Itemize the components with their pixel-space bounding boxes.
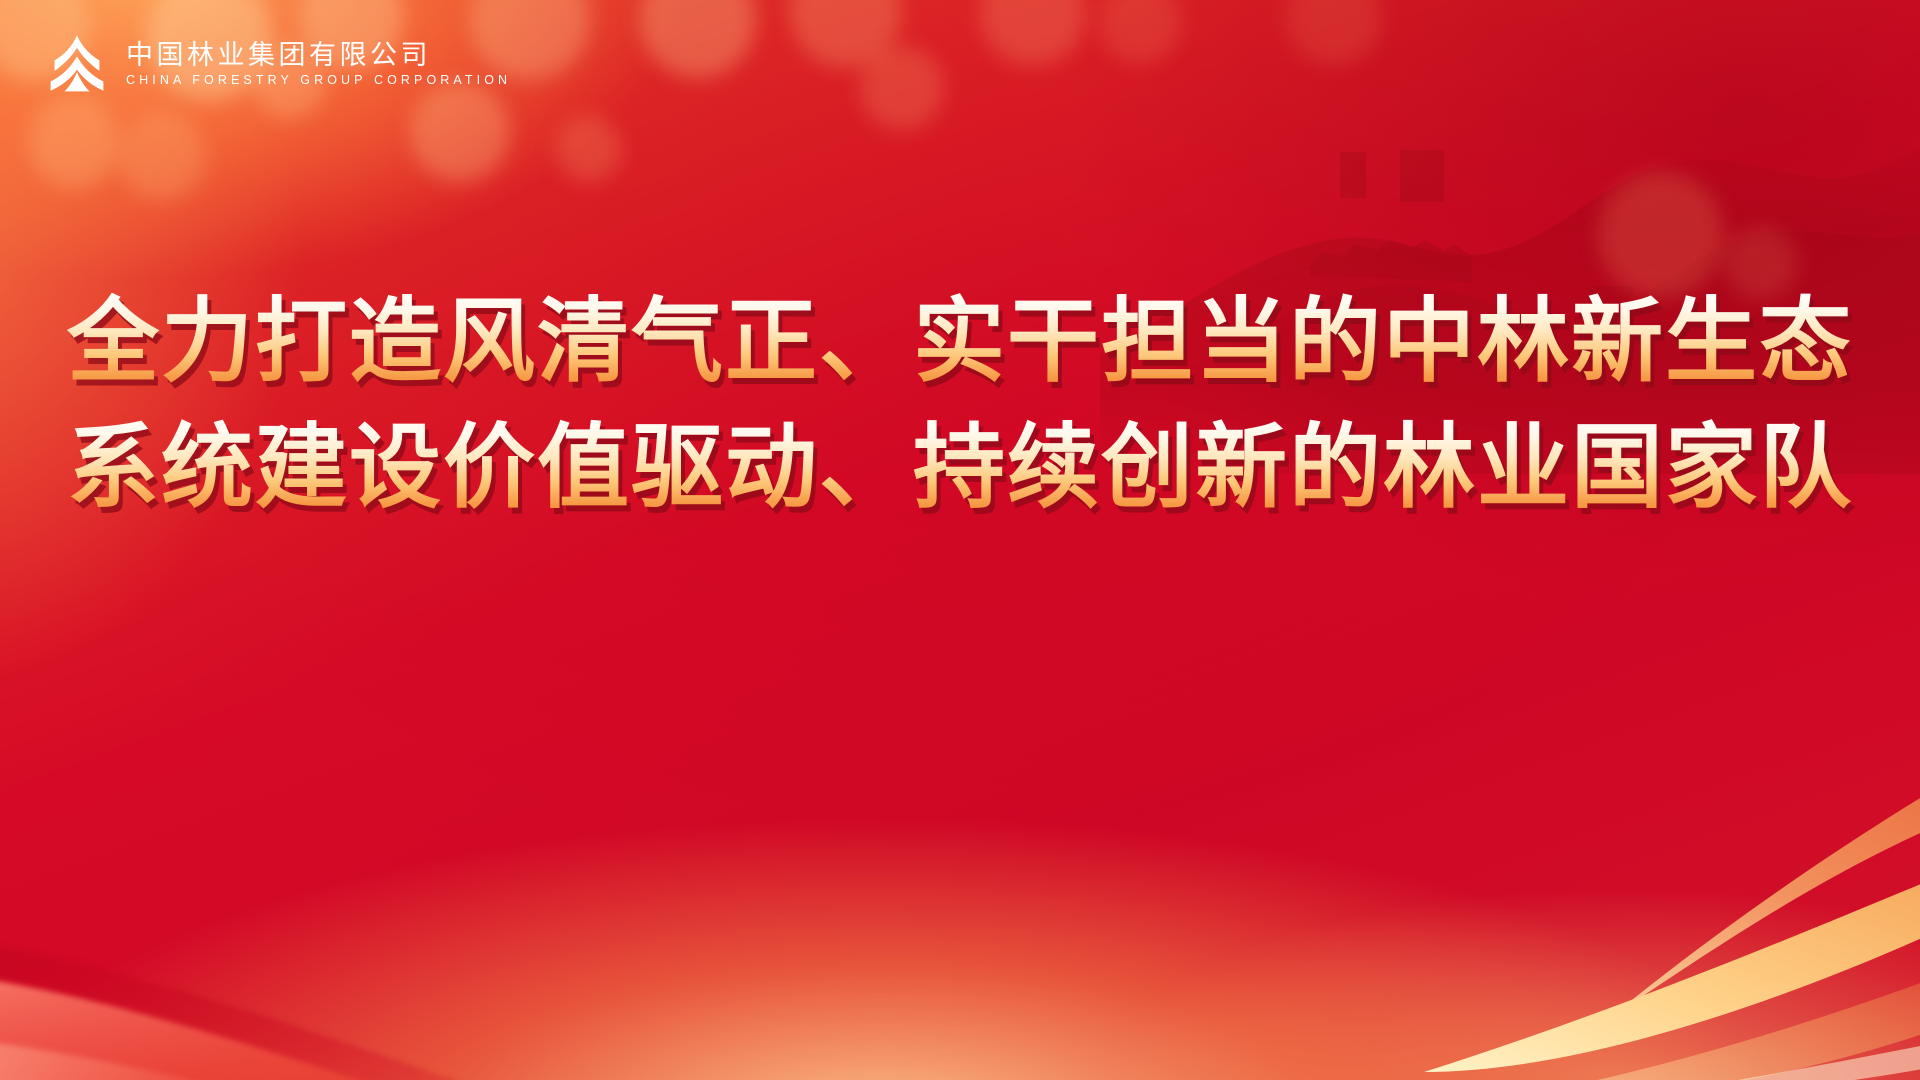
headline-line-2-text: 系统建设价值驱动、持续创新的林业国家队 bbox=[67, 414, 1853, 521]
banner-canvas: 中国林业集团有限公司 CHINA FORESTRY GROUP CORPORAT… bbox=[0, 0, 1920, 1080]
headline-block: 全力打造风清气正、实干担当的中林新生态 全力打造风清气正、实干担当的中林新生态 … bbox=[0, 296, 1920, 514]
brand-logo[interactable]: 中国林业集团有限公司 CHINA FORESTRY GROUP CORPORAT… bbox=[44, 30, 511, 96]
headline-line-2: 系统建设价值驱动、持续创新的林业国家队 系统建设价值驱动、持续创新的林业国家队 bbox=[67, 422, 1853, 514]
logo-company-name-en: CHINA FORESTRY GROUP CORPORATION bbox=[126, 74, 511, 88]
headline-line-1-text: 全力打造风清气正、实干担当的中林新生态 bbox=[67, 288, 1853, 395]
logo-company-name-cn: 中国林业集团有限公司 bbox=[126, 41, 511, 71]
china-forestry-group-emblem-icon bbox=[44, 30, 110, 96]
headline-line-1: 全力打造风清气正、实干担当的中林新生态 全力打造风清气正、实干担当的中林新生态 bbox=[67, 296, 1853, 388]
silk-ribbon-folds bbox=[0, 780, 880, 1080]
golden-swoosh-ribbon bbox=[1020, 780, 1920, 1080]
